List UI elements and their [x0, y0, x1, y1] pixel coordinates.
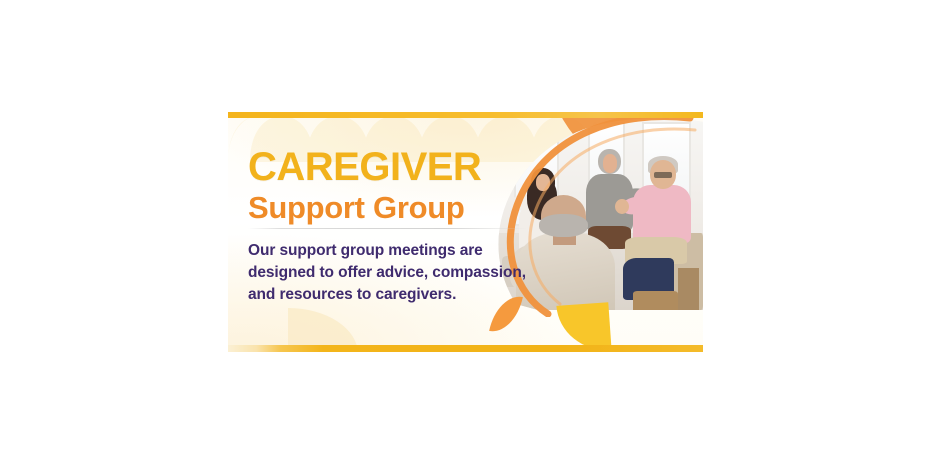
page-title-primary: CAREGIVER — [248, 146, 548, 188]
photo-person4-chair-leg — [678, 268, 699, 310]
photo-person4-hand — [615, 199, 629, 214]
banner-body-text: Our support group meetings are designed … — [248, 240, 548, 306]
photo-person4-body — [633, 185, 690, 243]
bottom-bar — [228, 345, 703, 352]
top-bar — [228, 112, 703, 118]
photo-person2-face — [603, 154, 617, 172]
title-divider — [248, 228, 528, 229]
page-root: CAREGIVER Support Group Our support grou… — [0, 0, 931, 460]
photo-chair-right — [633, 291, 678, 310]
photo-person4-glasses — [654, 172, 672, 178]
page-title-secondary: Support Group — [248, 190, 548, 226]
caregiver-support-group-banner: CAREGIVER Support Group Our support grou… — [228, 112, 703, 352]
banner-text-block: CAREGIVER Support Group — [248, 146, 548, 226]
